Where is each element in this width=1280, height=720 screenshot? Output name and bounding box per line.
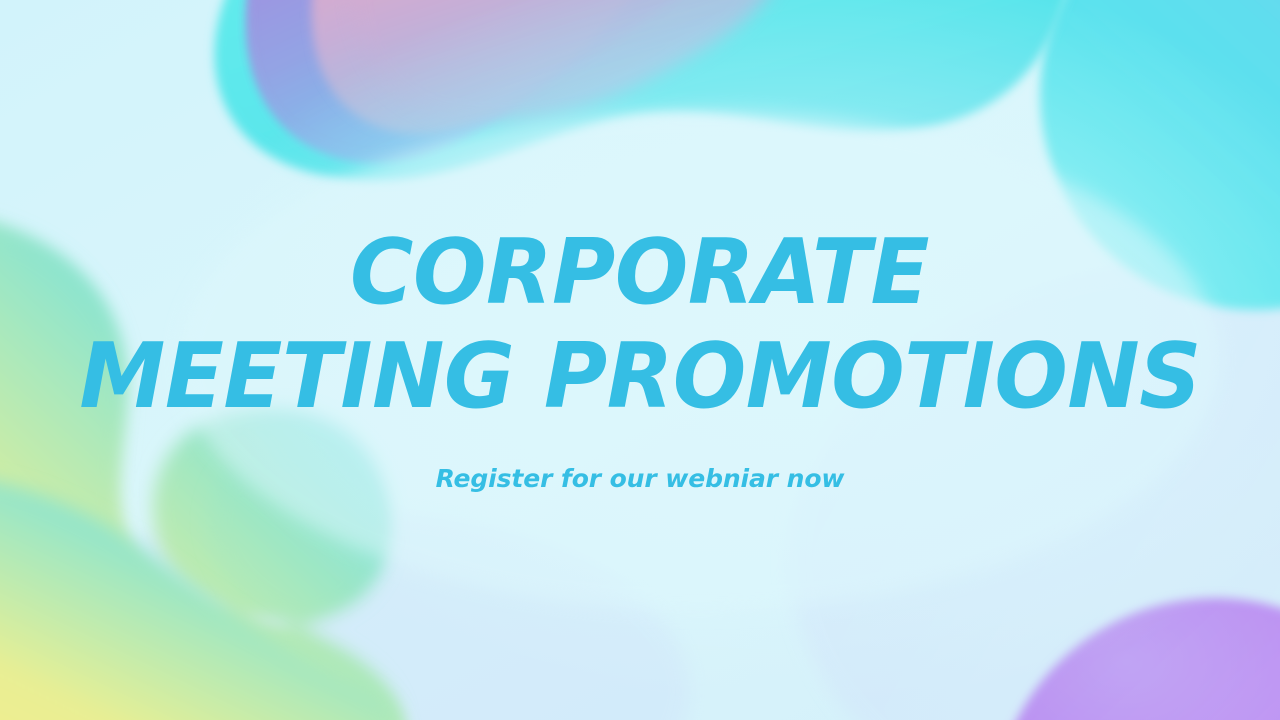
headline-line-2: MEETING PROMOTIONS bbox=[79, 332, 1201, 422]
promo-poster: CORPORATE MEETING PROMOTIONS Register fo… bbox=[0, 0, 1280, 720]
subtitle-cta: Register for our webniar now bbox=[436, 464, 845, 493]
headline-line-1: CORPORATE bbox=[351, 228, 930, 318]
poster-content: CORPORATE MEETING PROMOTIONS Register fo… bbox=[0, 0, 1280, 720]
